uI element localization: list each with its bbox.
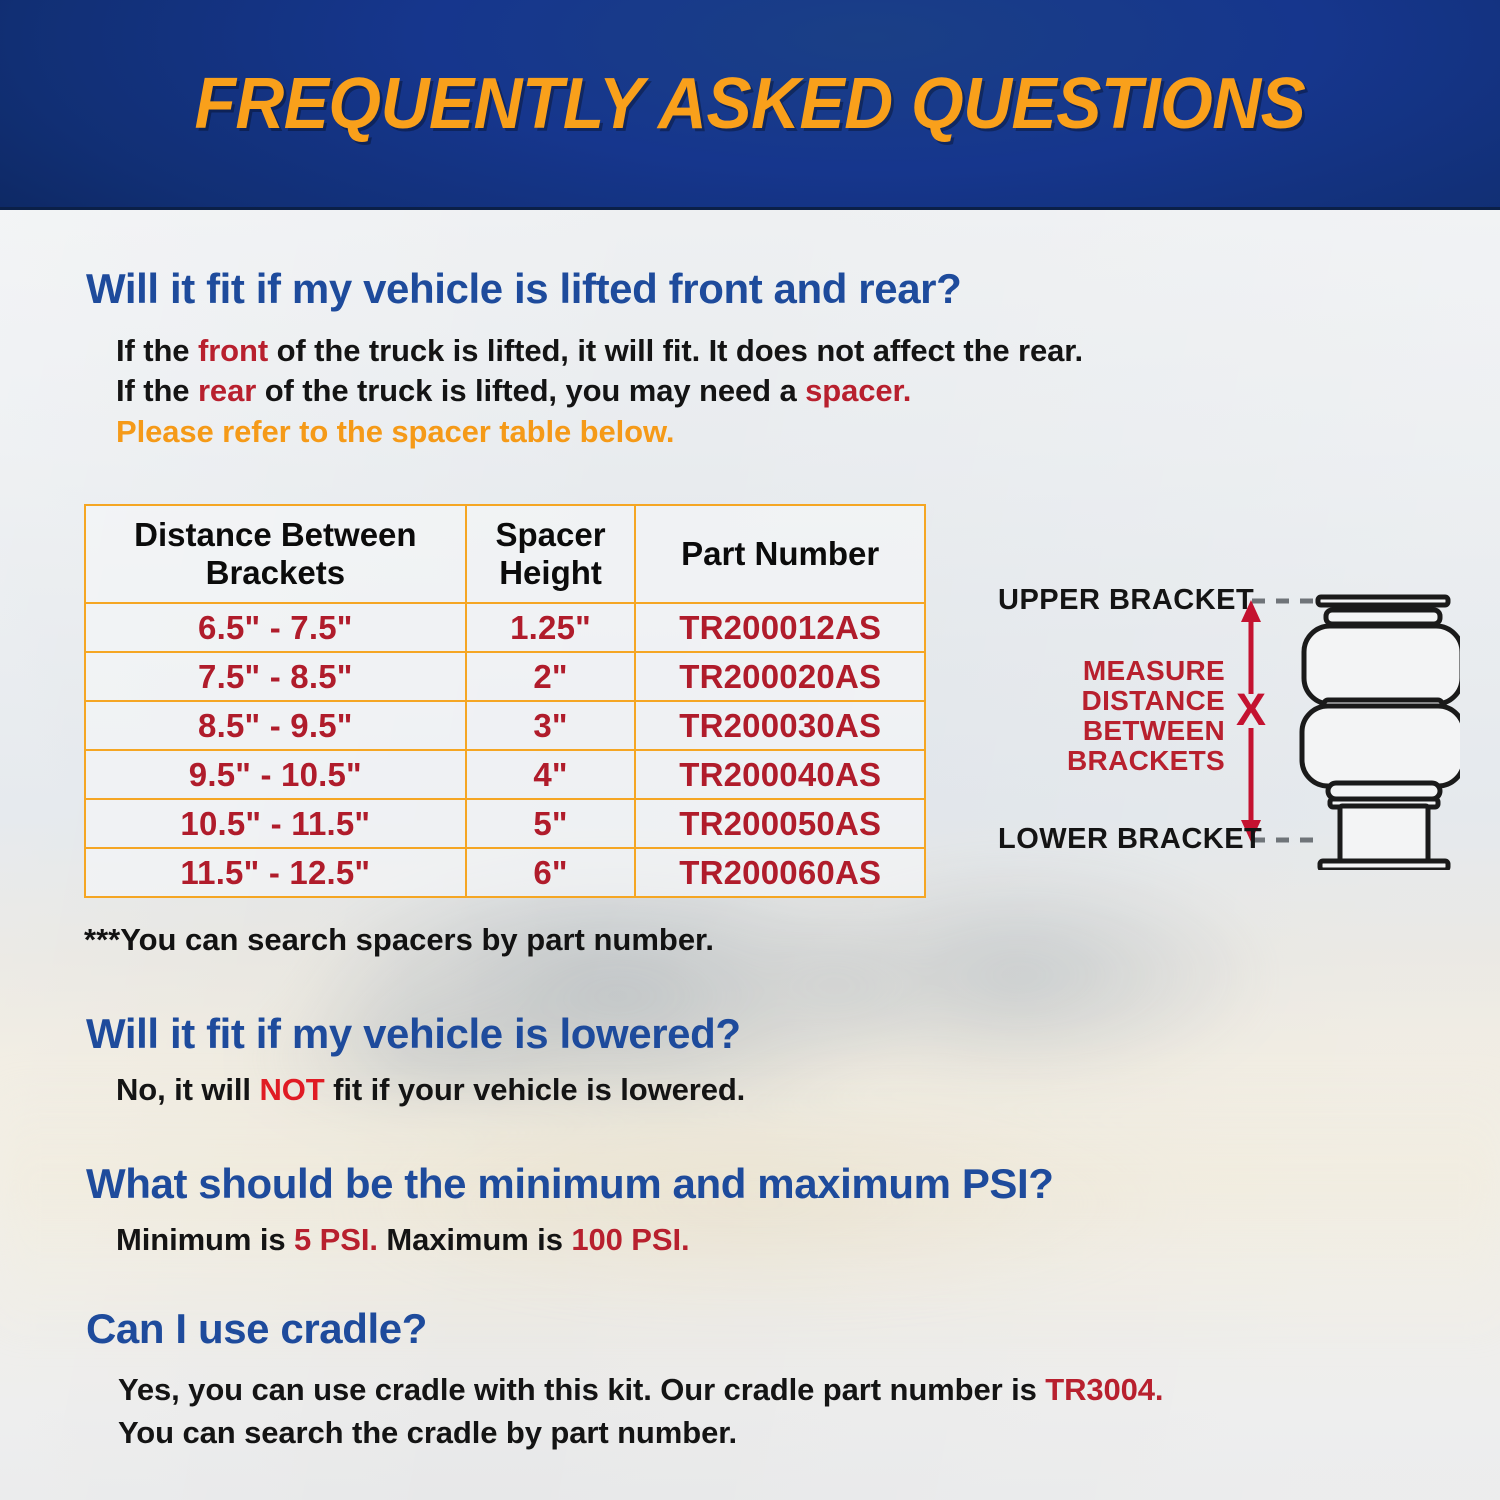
table-row: 6.5" - 7.5" 1.25" TR200012AS (85, 603, 925, 652)
table-row: 10.5" - 11.5" 5" TR200050AS (85, 799, 925, 848)
cell-spacer-height: 5" (466, 799, 636, 848)
column-header-spacer-height: Spacer Height (466, 505, 636, 603)
faq-question-lowered: Will it fit if my vehicle is lowered? (86, 1010, 745, 1058)
lower-bracket-plate (1320, 861, 1448, 870)
measure-label-line: MEASURE (970, 656, 1225, 686)
faq-block-cradle: Can I use cradle? Yes, you can use cradl… (86, 1305, 1163, 1455)
table-row: 7.5" - 8.5" 2" TR200020AS (85, 652, 925, 701)
answer-text-run: of the truck is lifted, it will fit. It … (268, 333, 1083, 368)
lower-bracket-label: LOWER BRACKET (998, 823, 1262, 856)
answer-text-run: of the truck is lifted, you may need a (256, 373, 805, 408)
faq-answer-cradle: Yes, you can use cradle with this kit. O… (86, 1369, 1163, 1455)
cell-spacer-height: 4" (466, 750, 636, 799)
cell-spacer-height: 6" (466, 848, 636, 897)
cell-part-number: TR200030AS (635, 701, 925, 750)
cell-part-number: TR200020AS (635, 652, 925, 701)
measure-label-line: BETWEEN (970, 716, 1225, 746)
answer-line: Minimum is 5 PSI. Maximum is 100 PSI. (116, 1222, 1054, 1258)
answer-text-run: front (198, 333, 268, 368)
cell-part-number: TR200012AS (635, 603, 925, 652)
answer-text-run: You can search the cradle by part number… (118, 1415, 737, 1450)
table-row: 11.5" - 12.5" 6" TR200060AS (85, 848, 925, 897)
cell-distance: 8.5" - 9.5" (85, 701, 466, 750)
cell-distance: 6.5" - 7.5" (85, 603, 466, 652)
answer-text-run: TR3004. (1045, 1372, 1163, 1407)
answer-text-run: Maximum is (378, 1222, 571, 1257)
measure-label-line: DISTANCE (970, 686, 1225, 716)
answer-text-run: 5 PSI. (294, 1222, 378, 1257)
upper-convolution (1304, 626, 1460, 704)
upper-bead-ring (1326, 610, 1440, 624)
spacer-table-note: ***You can search spacers by part number… (84, 922, 714, 958)
answer-line: If the front of the truck is lifted, it … (116, 331, 1083, 371)
upper-bracket-plate (1318, 597, 1448, 605)
answer-text-run: fit if your vehicle is lowered. (325, 1072, 746, 1107)
faq-question-cradle: Can I use cradle? (86, 1305, 1163, 1353)
cell-part-number: TR200050AS (635, 799, 925, 848)
cell-part-number: TR200060AS (635, 848, 925, 897)
answer-line: Yes, you can use cradle with this kit. O… (118, 1369, 1163, 1412)
faq-block-lowered: Will it fit if my vehicle is lowered? No… (86, 1010, 745, 1108)
answer-text-run: No, it will (116, 1072, 259, 1107)
table-body: 6.5" - 7.5" 1.25" TR200012AS 7.5" - 8.5"… (85, 603, 925, 897)
cell-spacer-height: 2" (466, 652, 636, 701)
answer-text-run: spacer. (805, 373, 911, 408)
answer-text-run: rear (198, 373, 256, 408)
faq-block-psi: What should be the minimum and maximum P… (86, 1160, 1054, 1258)
answer-text-run: NOT (259, 1072, 324, 1107)
faq-infographic: FREQUENTLY ASKED QUESTIONS Will it fit i… (0, 0, 1500, 1500)
faq-question-lifted: Will it fit if my vehicle is lifted fron… (86, 265, 1083, 313)
cell-distance: 10.5" - 11.5" (85, 799, 466, 848)
faq-block-lifted: Will it fit if my vehicle is lifted fron… (86, 265, 1083, 452)
answer-text-run: Yes, you can use cradle with this kit. O… (118, 1372, 1045, 1407)
bracket-measurement-diagram: X (960, 570, 1460, 870)
answer-line: You can search the cradle by part number… (118, 1412, 1163, 1455)
answer-text-run: Please refer to the spacer table below. (116, 414, 674, 449)
faq-answer-lifted: If the front of the truck is lifted, it … (86, 331, 1083, 452)
page-header: FREQUENTLY ASKED QUESTIONS (0, 0, 1500, 210)
table-header-row: Distance Between Brackets Spacer Height … (85, 505, 925, 603)
air-spring-illustration (1302, 597, 1460, 870)
measure-distance-label: MEASURE DISTANCE BETWEEN BRACKETS (970, 656, 1225, 776)
cell-distance: 7.5" - 8.5" (85, 652, 466, 701)
dimension-symbol-x: X (1236, 684, 1266, 735)
answer-line: No, it will NOT fit if your vehicle is l… (116, 1072, 745, 1108)
lower-convolution (1302, 706, 1460, 786)
answer-text-run: If the (116, 373, 198, 408)
measure-label-line: BRACKETS (970, 746, 1225, 776)
answer-line: Please refer to the spacer table below. (116, 412, 1083, 452)
cell-spacer-height: 3" (466, 701, 636, 750)
cell-distance: 11.5" - 12.5" (85, 848, 466, 897)
table-row: 8.5" - 9.5" 3" TR200030AS (85, 701, 925, 750)
spacer-table: Distance Between Brackets Spacer Height … (84, 504, 926, 898)
cell-part-number: TR200040AS (635, 750, 925, 799)
answer-line: If the rear of the truck is lifted, you … (116, 371, 1083, 411)
cell-spacer-height: 1.25" (466, 603, 636, 652)
column-header-part-number: Part Number (635, 505, 925, 603)
piston-barrel (1340, 806, 1428, 866)
answer-text-run: Minimum is (116, 1222, 294, 1257)
cell-distance: 9.5" - 10.5" (85, 750, 466, 799)
page-title: FREQUENTLY ASKED QUESTIONS (195, 63, 1306, 145)
faq-question-psi: What should be the minimum and maximum P… (86, 1160, 1054, 1208)
answer-text-run: If the (116, 333, 198, 368)
answer-text-run: 100 PSI. (571, 1222, 689, 1257)
table-row: 9.5" - 10.5" 4" TR200040AS (85, 750, 925, 799)
upper-bracket-label: UPPER BRACKET (998, 584, 1254, 617)
column-header-distance: Distance Between Brackets (85, 505, 466, 603)
